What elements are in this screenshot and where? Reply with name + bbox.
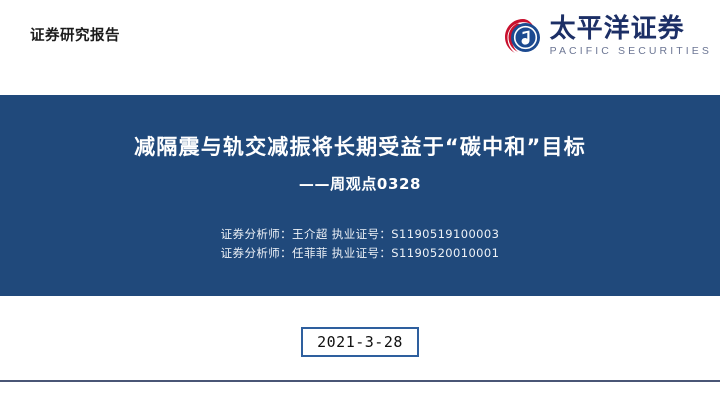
report-cover-page: 证券研究报告 太平洋证券 PACIFIC SECURITIES 减隔震与轨交减振…: [0, 0, 720, 405]
logo-english-name: PACIFIC SECURITIES: [550, 46, 712, 57]
logo-chinese-name: 太平洋证券: [550, 16, 712, 43]
report-title: 减隔震与轨交减振将长期受益于“碳中和”目标: [0, 131, 720, 161]
analyst-line: 证券分析师：任菲菲 执业证号：S1190520010001: [0, 244, 720, 263]
logo-text: 太平洋证券 PACIFIC SECURITIES: [550, 16, 712, 57]
publication-date: 2021-3-28: [317, 333, 403, 351]
report-type-label: 证券研究报告: [30, 24, 120, 45]
page-header: 证券研究报告 太平洋证券 PACIFIC SECURITIES: [0, 0, 720, 95]
analyst-line: 证券分析师：王介超 执业证号：S1190519100003: [0, 225, 720, 244]
company-logo: 太平洋证券 PACIFIC SECURITIES: [503, 16, 712, 66]
report-subtitle: ——周观点0328: [0, 173, 720, 194]
analyst-list: 证券分析师：王介超 执业证号：S1190519100003 证券分析师：任菲菲 …: [0, 225, 720, 263]
footer-divider: [0, 380, 720, 382]
pacific-securities-swirl-logo-icon: [503, 17, 543, 57]
publication-date-container: 2021-3-28: [0, 327, 720, 357]
publication-date-box: 2021-3-28: [301, 327, 419, 357]
title-banner: 减隔震与轨交减振将长期受益于“碳中和”目标 ——周观点0328 证券分析师：王介…: [0, 95, 720, 296]
